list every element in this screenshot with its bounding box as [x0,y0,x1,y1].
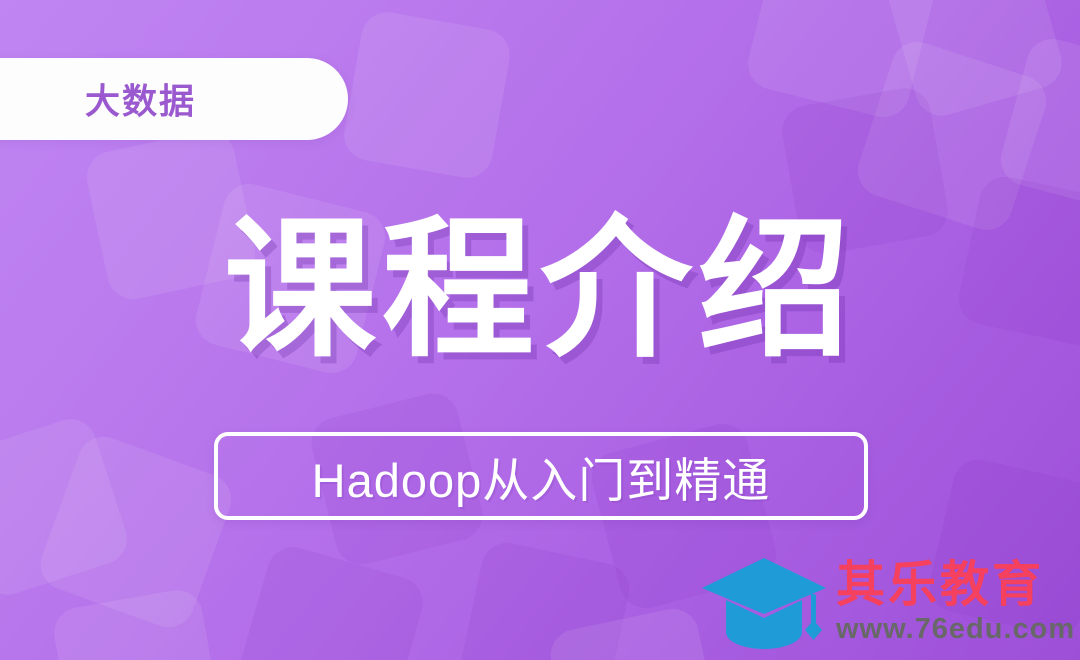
brand-text-block: 其乐教育 www.76edu.com [836,560,1075,646]
decoration-square-5 [231,541,429,660]
subtitle-frame: Hadoop从入门到精通 [214,432,868,520]
page-title: 课程介绍 [0,214,1080,366]
brand-watermark: 其乐教育 www.76edu.com [698,552,1075,652]
decoration-square-16 [340,8,514,182]
decoration-square-9 [882,0,1068,122]
subtitle-text: Hadoop从入门到精通 [312,442,771,511]
category-badge: 大数据 [0,58,348,140]
decoration-square-7 [456,538,634,660]
brand-url: www.76edu.com [836,614,1075,646]
graduation-cap-icon [698,552,830,652]
brand-name: 其乐教育 [836,560,1075,611]
decoration-square-8 [742,0,942,123]
decoration-square-4 [50,586,224,660]
category-badge-label: 大数据 [85,74,196,125]
course-intro-banner: 大数据 课程介绍 Hadoop从入门到精通 其乐教育 www.76edu.com [0,0,1080,660]
decoration-square-3 [33,429,238,634]
decoration-square-10 [995,33,1080,217]
decoration-square-11 [851,35,1053,237]
decoration-square-2 [0,412,134,601]
